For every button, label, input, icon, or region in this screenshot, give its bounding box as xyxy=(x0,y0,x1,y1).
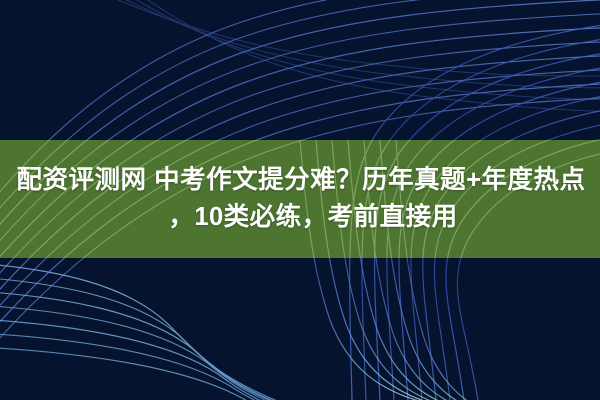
green-headline-band xyxy=(0,140,600,258)
wave-lines-green-overlay xyxy=(0,140,600,258)
promo-banner: 配资评测网 中考作文提分难？历年真题+年度热点 ，10类必练，考前直接用 xyxy=(0,0,600,400)
